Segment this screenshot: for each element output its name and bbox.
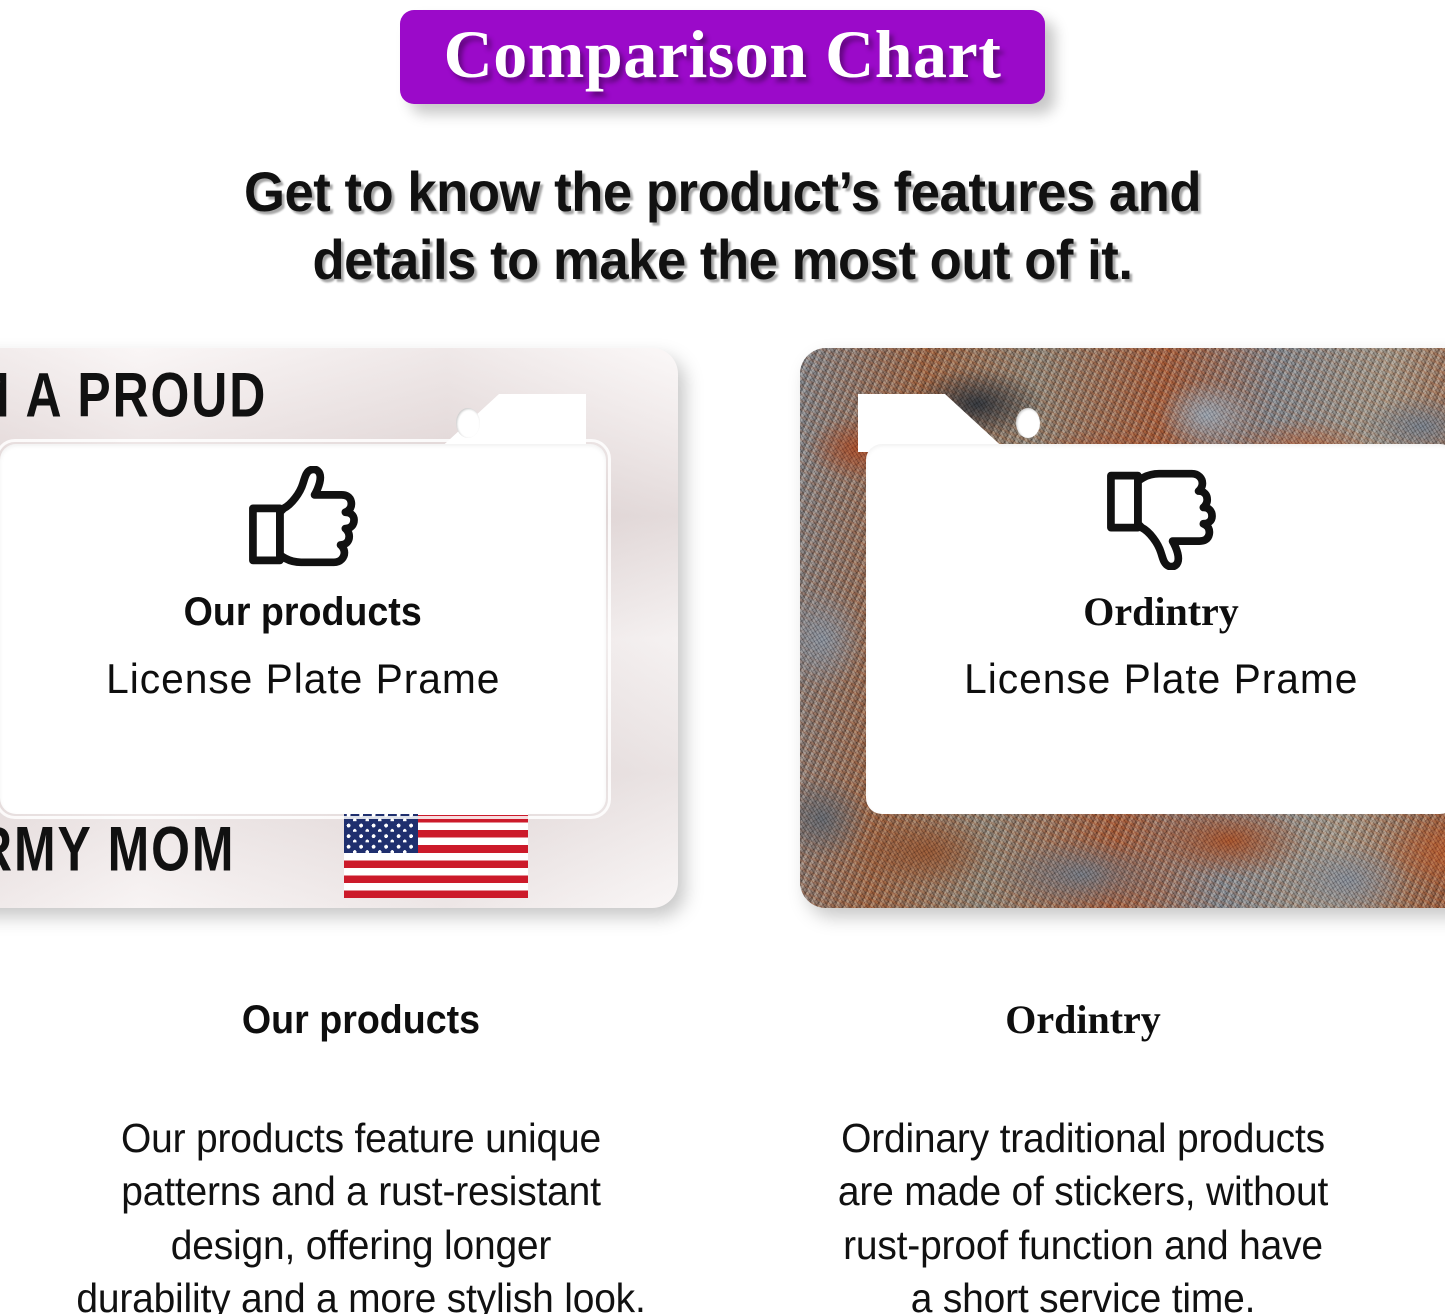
description-line: Ordinary traditional products (786, 1112, 1381, 1165)
ordinary-window-subtitle: License Plate Prame (964, 658, 1358, 700)
descriptions-row: Our products Our products feature unique… (0, 990, 1445, 1314)
description-line: rust-proof function and have (786, 1219, 1381, 1272)
us-flag-icon (344, 800, 528, 898)
our-window-subtitle: License Plate Prame (106, 658, 500, 700)
ordinary-frame-window-content: Ordintry License Plate Prame (866, 444, 1445, 814)
page-title: Comparison Chart (444, 20, 1002, 88)
comparison-chart-banner: Comparison Chart (400, 10, 1046, 104)
subtitle-line-2: details to make the most out of it. (43, 226, 1401, 294)
our-frame-window-content: Our products License Plate Prame (0, 444, 606, 814)
description-line: design, offering longer (64, 1219, 659, 1272)
mounting-hole (456, 408, 480, 438)
thumbs-down-icon (1103, 466, 1219, 570)
description-line: a short service time. (786, 1272, 1381, 1314)
ordinary-frame-window: Ordintry License Plate Prame (866, 444, 1445, 814)
description-line: durability and a more stylish look. (64, 1272, 659, 1314)
subtitle-line-1: Get to know the product’s features and (43, 158, 1401, 226)
mounting-hole (1016, 408, 1040, 438)
ordinary-window-title: Ordintry (1083, 592, 1239, 632)
ordinary-license-plate-frame: Ordintry License Plate Prame (800, 348, 1445, 908)
our-products-description: Our products feature unique patterns and… (18, 1112, 704, 1314)
ordinary-products-description: Ordinary traditional products are made o… (740, 1112, 1426, 1314)
our-products-heading: Our products (22, 1000, 701, 1040)
thumbs-up-icon (245, 466, 361, 570)
description-line: Our products feature unique (64, 1112, 659, 1165)
our-window-title: Our products (184, 592, 422, 632)
our-license-plate-frame: M A PROUD RMY MOM Our produ (0, 348, 678, 908)
description-line: patterns and a rust-resistant (64, 1165, 659, 1218)
ordinary-products-column: Ordintry Ordinary traditional products a… (722, 990, 1444, 1314)
our-frame-window: Our products License Plate Prame (0, 444, 606, 814)
description-line: are made of stickers, without (786, 1165, 1381, 1218)
ordinary-products-heading: Ordintry (722, 1000, 1444, 1040)
frames-comparison-row: M A PROUD RMY MOM Our produ (0, 348, 1445, 918)
comparison-chart-page: Comparison Chart Get to know the product… (0, 0, 1445, 1314)
plate-slogan-top: M A PROUD (0, 359, 267, 432)
subtitle: Get to know the product’s features and d… (43, 158, 1401, 295)
our-products-column: Our products Our products feature unique… (0, 990, 722, 1314)
banner-container: Comparison Chart (0, 10, 1445, 104)
plate-slogan-bottom: RMY MOM (0, 813, 235, 886)
